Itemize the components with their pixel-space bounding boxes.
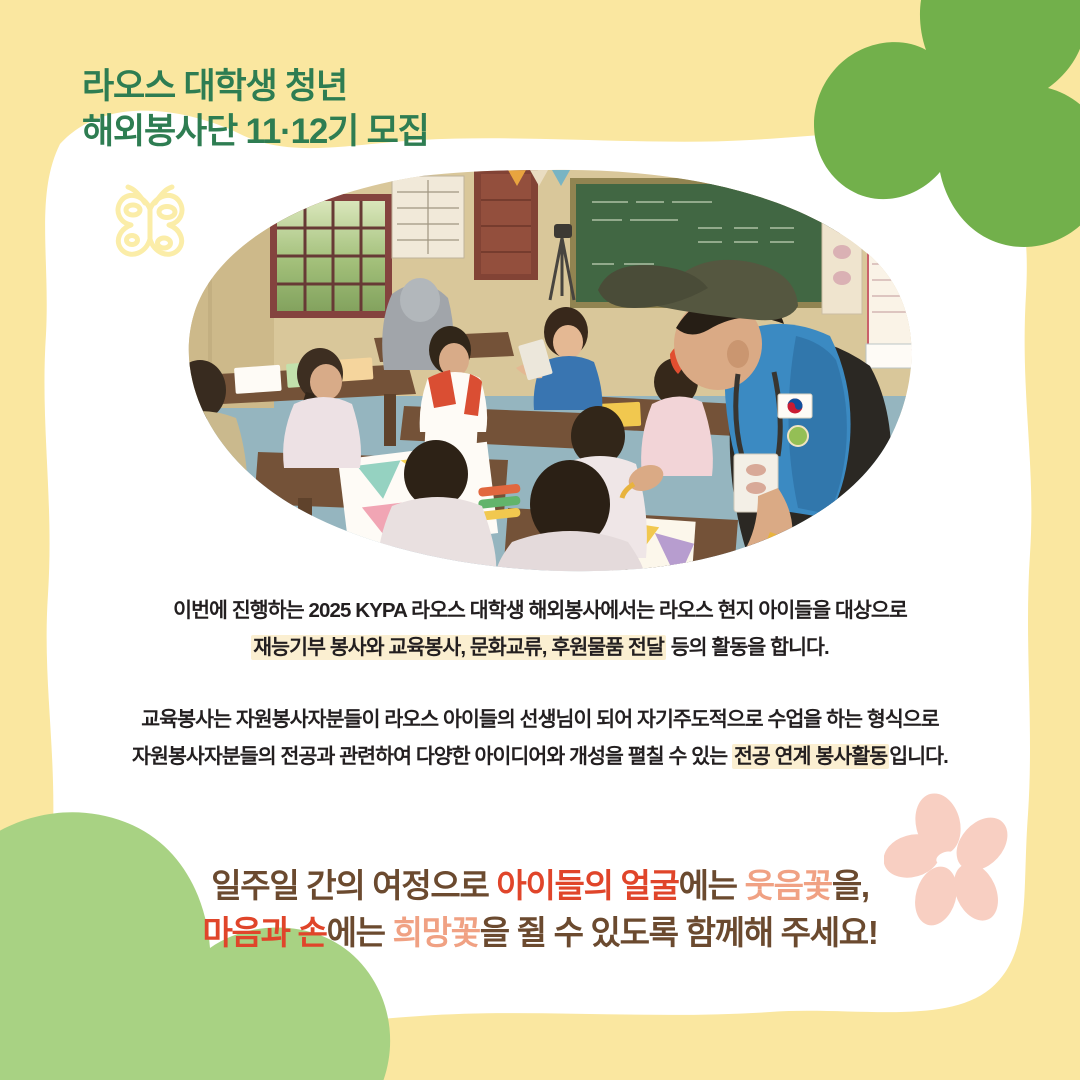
headline-run-brown-0: 일주일 간의 여정으로	[211, 867, 496, 904]
closing-headline: 일주일 간의 여정으로 아이들의 얼굴에는 웃음꽃을, 마음과 손에는 희망꽃을…	[0, 862, 1080, 956]
classroom-photo-illustration	[178, 168, 918, 572]
headline-run-brown-3: 을 쥘 수 있도록 함께해 주세요!	[480, 914, 878, 951]
classroom-photo	[178, 168, 918, 572]
headline-run-red-0: 마음과 손	[202, 914, 326, 951]
paragraph-2-line-2-head: 자원봉사자분들의 전공과 관련하여 다양한 아이디어와 개성을 펼칠 수 있는	[132, 745, 732, 768]
paragraph-1-line-1: 이번에 진행하는 2025 KYPA 라오스 대학생 해외봉사에서는 라오스 현…	[0, 592, 1080, 629]
body-copy: 이번에 진행하는 2025 KYPA 라오스 대학생 해외봉사에서는 라오스 현…	[0, 592, 1080, 775]
title-line-1: 라오스 대학생 청년	[82, 64, 429, 109]
highlight-activities: 재능기부 봉사와 교육봉사, 문화교류, 후원물품 전달	[251, 635, 666, 660]
paragraph-2-line-2: 자원봉사자분들의 전공과 관련하여 다양한 아이디어와 개성을 펼칠 수 있는 …	[0, 738, 1080, 775]
page-title: 라오스 대학생 청년 해외봉사단 11·12기 모집	[82, 64, 429, 154]
headline-run-brown-2: 에는	[679, 867, 745, 904]
headline-run-brown-1: 에는	[327, 914, 393, 951]
headline-run-salmon-2: 희망꽃	[393, 914, 480, 951]
paragraph-2-line-2-tail: 입니다.	[889, 745, 948, 768]
poster-canvas: 라오스 대학생 청년 해외봉사단 11·12기 모집	[0, 0, 1080, 1080]
paragraph-1: 이번에 진행하는 2025 KYPA 라오스 대학생 해외봉사에서는 라오스 현…	[0, 592, 1080, 666]
headline-run-red-1: 아이들의 얼굴	[496, 867, 678, 904]
paragraph-1-line-2: 재능기부 봉사와 교육봉사, 문화교류, 후원물품 전달 등의 활동을 합니다.	[0, 629, 1080, 666]
highlight-major-linked: 전공 연계 봉사활동	[732, 744, 889, 769]
closing-headline-line-1: 일주일 간의 여정으로 아이들의 얼굴에는 웃음꽃을,	[0, 862, 1080, 909]
paragraph-2-line-1: 교육봉사는 자원봉사자분들이 라오스 아이들의 선생님이 되어 자기주도적으로 …	[0, 701, 1080, 738]
title-line-2: 해외봉사단 11·12기 모집	[82, 109, 429, 154]
paragraph-2: 교육봉사는 자원봉사자분들이 라오스 아이들의 선생님이 되어 자기주도적으로 …	[0, 701, 1080, 775]
headline-run-brown-4: 을,	[832, 867, 869, 904]
closing-headline-line-2: 마음과 손에는 희망꽃을 쥘 수 있도록 함께해 주세요!	[0, 909, 1080, 956]
headline-run-salmon-3: 웃음꽃	[745, 867, 832, 904]
paragraph-1-line-2-tail: 등의 활동을 합니다.	[666, 636, 829, 659]
